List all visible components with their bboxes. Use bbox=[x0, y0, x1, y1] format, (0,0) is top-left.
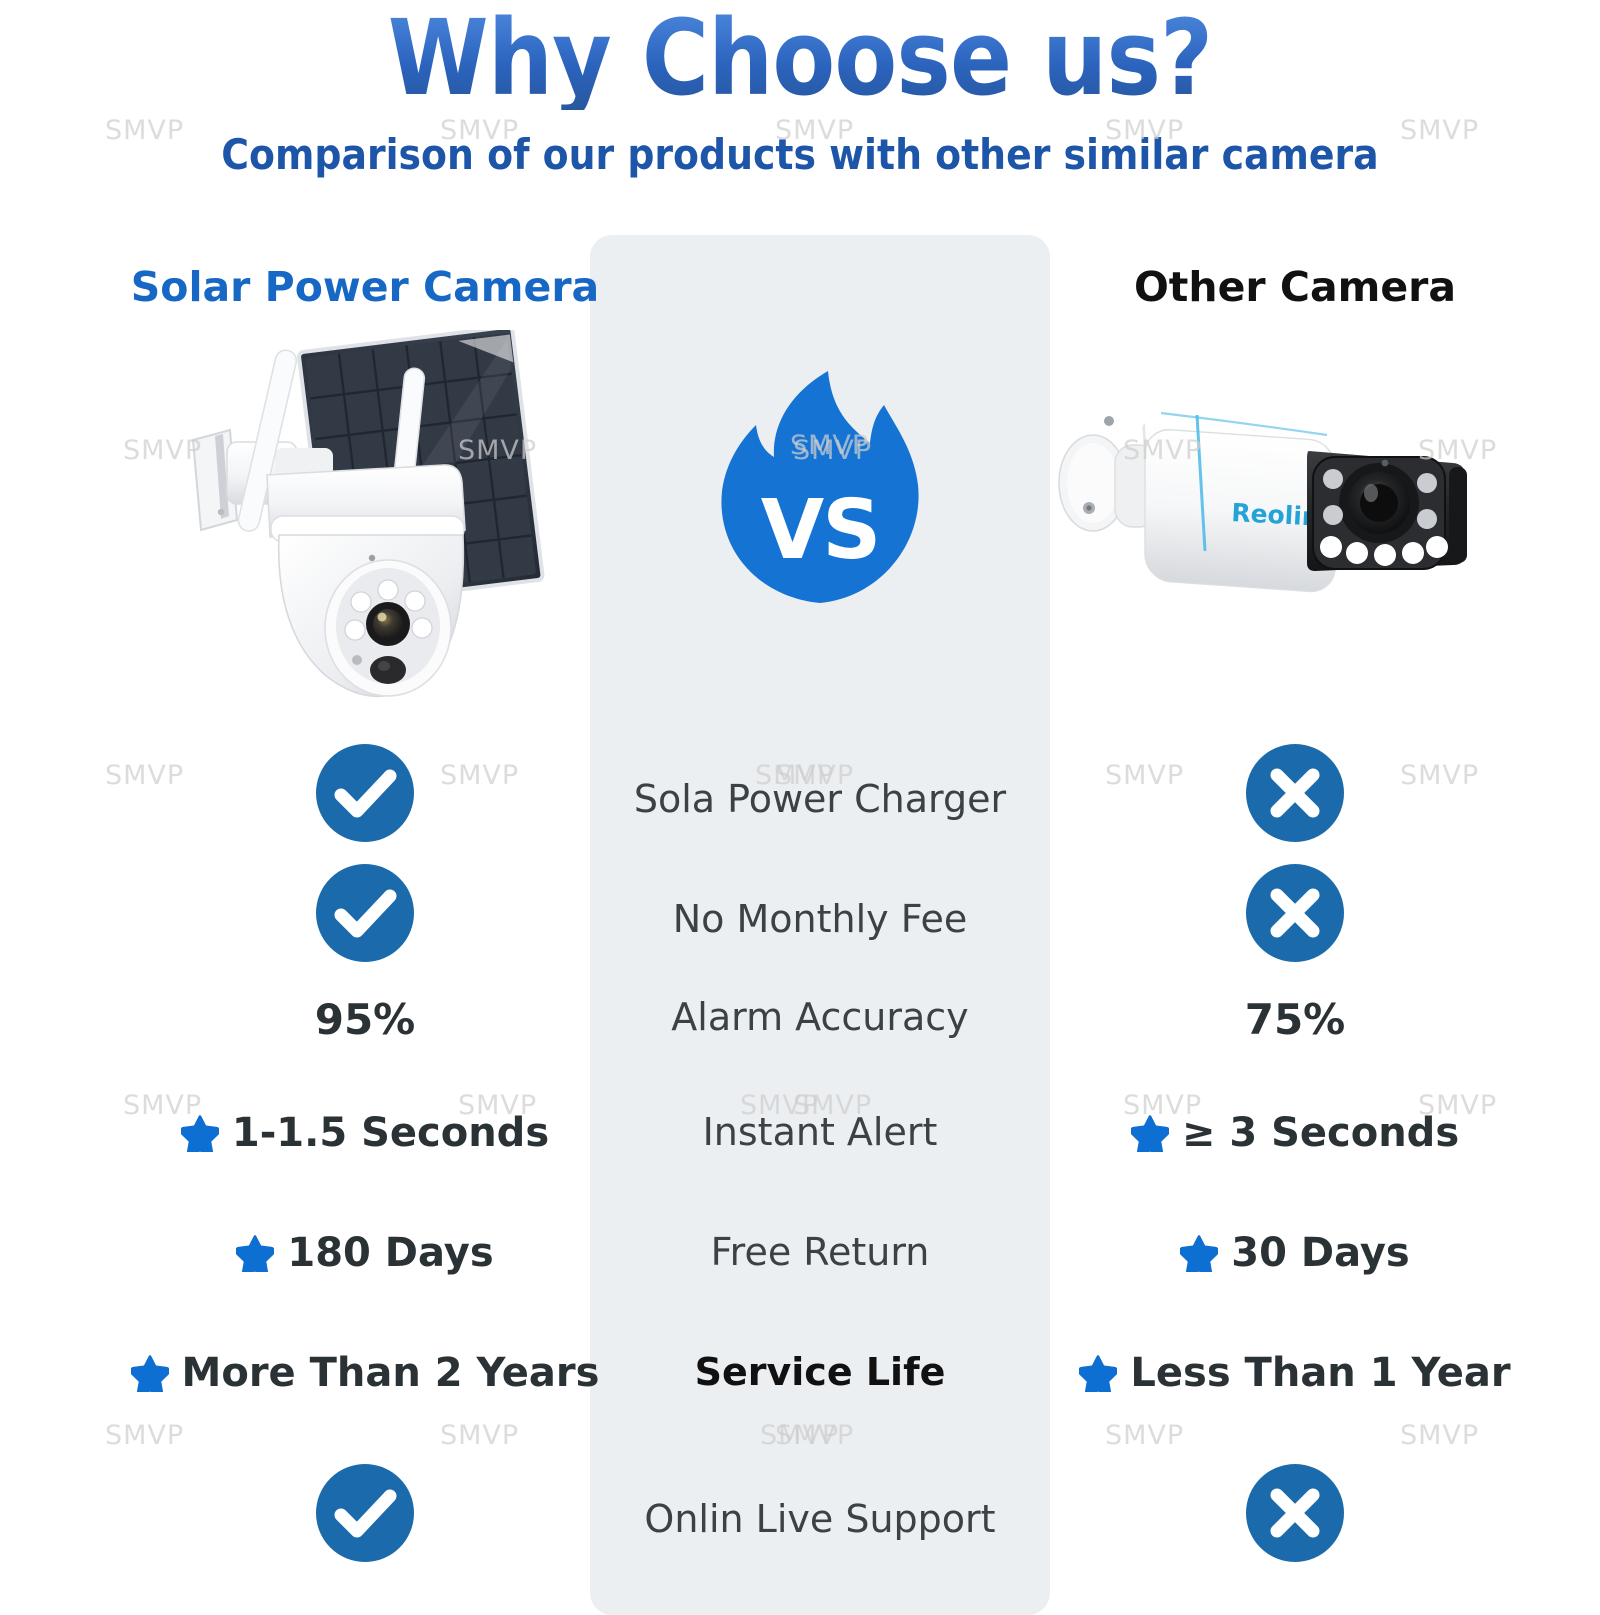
bullet-camera-image: Reolink bbox=[1045, 375, 1475, 630]
feature-label-cell: Onlin Live Support bbox=[590, 1497, 1050, 1541]
right-value-text: Less Than 1 Year bbox=[1130, 1350, 1510, 1396]
right-percent-value: 75% bbox=[1245, 995, 1346, 1044]
right-column-cell: 75% bbox=[1025, 995, 1565, 1044]
check-circle-icon bbox=[315, 863, 415, 963]
right-column-cell: Less Than 1 Year bbox=[1025, 1350, 1565, 1396]
feature-label: Sola Power Charger bbox=[634, 777, 1006, 821]
right-column-cell: 30 Days bbox=[1025, 1230, 1565, 1276]
solar-power-ptz-camera-image bbox=[175, 330, 575, 720]
feature-label-cell: No Monthly Fee bbox=[590, 897, 1050, 941]
feature-label-cell: Free Return bbox=[590, 1230, 1050, 1274]
right-column-cell bbox=[1025, 743, 1565, 847]
right-column-cell: ≥ 3 Seconds bbox=[1025, 1110, 1565, 1156]
check-circle-icon bbox=[315, 863, 415, 967]
star-icon bbox=[1131, 1114, 1169, 1152]
left-column-cell: 1-1.5 Seconds bbox=[95, 1110, 635, 1156]
feature-label-cell: Sola Power Charger bbox=[590, 777, 1050, 821]
page-title: Why Choose us? bbox=[96, 0, 1504, 110]
right-value-text: ≥ 3 Seconds bbox=[1182, 1110, 1459, 1156]
left-star-value: 1-1.5 Seconds bbox=[181, 1110, 549, 1156]
right-column-cell bbox=[1025, 863, 1565, 967]
left-column-cell bbox=[95, 863, 635, 967]
check-circle-icon bbox=[315, 743, 415, 847]
left-column-cell: 180 Days bbox=[95, 1230, 635, 1276]
feature-label-cell: Alarm Accuracy bbox=[590, 995, 1050, 1039]
vs-badge: VS bbox=[700, 365, 940, 610]
left-column-cell bbox=[95, 743, 635, 847]
left-column-cell: 95% bbox=[95, 995, 635, 1044]
left-column-cell: More Than 2 Years bbox=[95, 1350, 635, 1396]
feature-label: Alarm Accuracy bbox=[671, 995, 968, 1039]
cross-circle-icon bbox=[1245, 743, 1345, 843]
star-icon bbox=[1180, 1234, 1218, 1272]
left-value-text: More Than 2 Years bbox=[182, 1350, 600, 1396]
feature-label-cell: Instant Alert bbox=[590, 1110, 1050, 1154]
watermark-text: SMVP bbox=[1400, 1420, 1479, 1451]
watermark-text: SMVP bbox=[440, 1420, 519, 1451]
star-icon bbox=[236, 1234, 274, 1272]
check-circle-icon bbox=[315, 1463, 415, 1567]
column-header-solar-power-camera: Solar Power Camera bbox=[100, 263, 630, 311]
cross-circle-icon bbox=[1245, 863, 1345, 967]
left-value-text: 1-1.5 Seconds bbox=[232, 1110, 549, 1156]
star-icon bbox=[1079, 1354, 1117, 1392]
cross-circle-icon bbox=[1245, 1463, 1345, 1563]
right-star-value: 30 Days bbox=[1180, 1230, 1409, 1276]
check-circle-icon bbox=[315, 743, 415, 843]
left-star-value: 180 Days bbox=[236, 1230, 493, 1276]
check-circle-icon bbox=[315, 1463, 415, 1563]
feature-label: Onlin Live Support bbox=[644, 1497, 995, 1541]
right-column-cell bbox=[1025, 1463, 1565, 1567]
feature-label: Free Return bbox=[711, 1230, 930, 1274]
page-subtitle: Comparison of our products with other si… bbox=[80, 130, 1520, 179]
watermark-text: SMVP bbox=[1105, 1420, 1184, 1451]
cross-circle-icon bbox=[1245, 863, 1345, 963]
star-icon bbox=[181, 1114, 219, 1152]
star-icon bbox=[131, 1354, 169, 1392]
feature-label: No Monthly Fee bbox=[673, 897, 968, 941]
cross-circle-icon bbox=[1245, 1463, 1345, 1567]
right-star-value: ≥ 3 Seconds bbox=[1131, 1110, 1459, 1156]
feature-label: Instant Alert bbox=[703, 1110, 938, 1154]
left-column-cell bbox=[95, 1463, 635, 1567]
vs-label: VS bbox=[700, 483, 940, 578]
right-value-text: 30 Days bbox=[1231, 1230, 1409, 1276]
feature-label: Service Life bbox=[695, 1350, 946, 1394]
left-star-value: More Than 2 Years bbox=[131, 1350, 600, 1396]
column-header-other-camera: Other Camera bbox=[1030, 263, 1560, 311]
watermark-text: SMVP bbox=[105, 1420, 184, 1451]
cross-circle-icon bbox=[1245, 743, 1345, 847]
header: Why Choose us? Comparison of our product… bbox=[0, 0, 1600, 179]
left-percent-value: 95% bbox=[315, 995, 416, 1044]
feature-label-cell: Service Life bbox=[590, 1350, 1050, 1394]
right-star-value: Less Than 1 Year bbox=[1079, 1350, 1510, 1396]
left-value-text: 180 Days bbox=[287, 1230, 493, 1276]
